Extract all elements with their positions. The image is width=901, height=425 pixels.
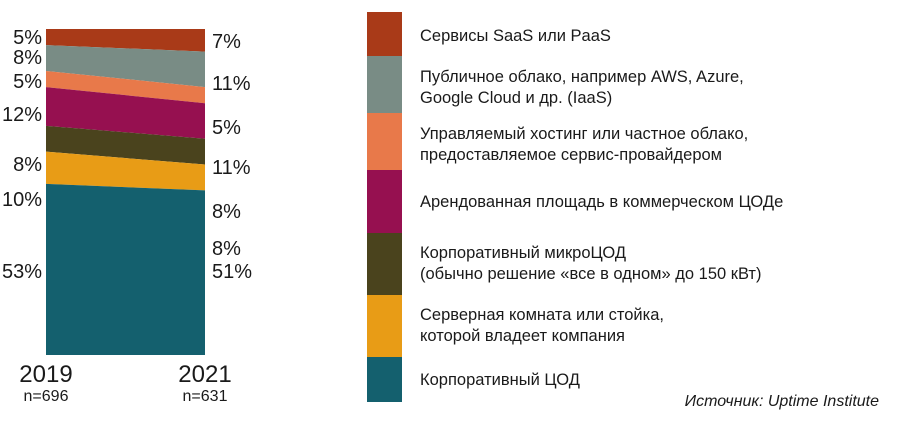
x-axis-year-2021: 2021 [160, 362, 250, 387]
legend-swatch-2 [367, 56, 402, 113]
value-label-right: 8% [212, 239, 282, 259]
legend-swatch-6 [367, 295, 402, 357]
legend-label-5: Корпоративный микроЦОД (обычно решение «… [420, 243, 762, 285]
x-axis-n-2019: n=696 [1, 389, 91, 406]
value-label-left: 5% [0, 28, 42, 48]
legend-swatch-7 [367, 357, 402, 402]
legend-label-2: Публичное облако, например AWS, Azure, G… [420, 67, 744, 109]
legend-label-3: Управляемый хостинг или частное облако, … [420, 124, 748, 166]
plot-area [46, 29, 205, 355]
legend-label-4: Арендованная площадь в коммерческом ЦОДе [420, 192, 783, 213]
legend-label-1: Сервисы SaaS или PaaS [420, 26, 611, 47]
value-label-right: 7% [212, 32, 282, 52]
x-axis-year-2019: 2019 [1, 362, 91, 387]
value-label-left: 5% [0, 72, 42, 92]
stacked-area-chart: 5%8%5%12%8%10%53% 7%11%5%11%8%8%51% 2019… [0, 0, 340, 425]
value-label-right: 11% [212, 74, 282, 94]
value-label-right: 11% [212, 158, 282, 178]
value-label-left: 53% [0, 262, 42, 282]
value-label-right: 51% [212, 262, 282, 282]
value-label-left: 8% [0, 48, 42, 68]
x-axis-tick-2019: 2019 n=696 [1, 362, 91, 406]
area-band [46, 184, 205, 355]
legend-swatch-3 [367, 113, 402, 170]
stacked-area-svg [46, 29, 205, 355]
legend-swatch-5 [367, 233, 402, 295]
legend-swatch-1 [367, 12, 402, 56]
source-note: Источник: Uptime Institute [685, 393, 879, 411]
value-label-left: 8% [0, 155, 42, 175]
x-axis-tick-2021: 2021 n=631 [160, 362, 250, 406]
chart-page: 5%8%5%12%8%10%53% 7%11%5%11%8%8%51% 2019… [0, 0, 901, 425]
legend-swatch-4 [367, 170, 402, 233]
legend-label-6: Серверная комната или стойка, которой вл… [420, 305, 664, 347]
legend-label-7: Корпоративный ЦОД [420, 370, 580, 391]
value-label-right: 5% [212, 118, 282, 138]
value-label-right: 8% [212, 202, 282, 222]
value-label-left: 12% [0, 105, 42, 125]
x-axis-n-2021: n=631 [160, 389, 250, 406]
value-label-left: 10% [0, 190, 42, 210]
